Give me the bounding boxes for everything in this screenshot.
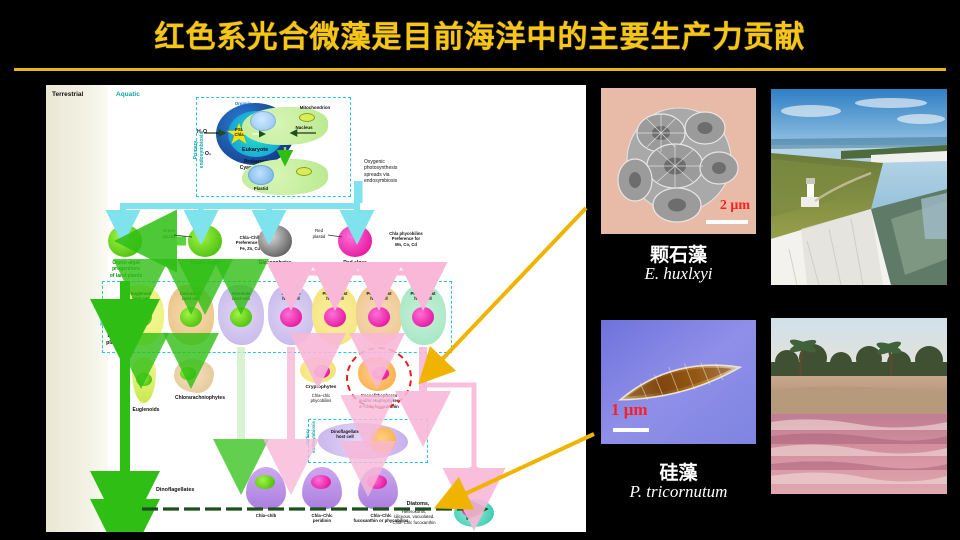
specimen-2-species: P. tricornutum <box>601 482 756 502</box>
chalk-cliff-photo <box>771 89 947 285</box>
endosymbiosis-diagram: Terrestrial Aquatic PSII Chla PSI Chla O… <box>46 85 586 532</box>
diatom-lm-art <box>601 320 756 444</box>
scale-label-coccolith: 2 μm <box>720 198 750 214</box>
scale-bar-diatom <box>613 428 649 432</box>
specimen-1-common-name: 颗石藻 <box>601 240 756 267</box>
red-tide-beach-photo <box>771 318 947 494</box>
diatom-micrograph: 1 μm <box>601 320 756 444</box>
coccolithophore-micrograph: 2 μm <box>601 88 756 234</box>
diagram-connectors <box>46 85 586 532</box>
title-divider <box>14 68 946 71</box>
slide-title-bar: 红色系光合微藻是目前海洋中的主要生产力贡献 <box>0 0 960 68</box>
scale-bar-coccolith <box>706 220 748 224</box>
specimen-1-species: E. huxlxyi <box>601 264 756 284</box>
cliff-scene-art <box>771 89 947 285</box>
page-title: 红色系光合微藻是目前海洋中的主要生产力贡献 <box>155 12 806 56</box>
beach-scene-art <box>771 318 947 494</box>
specimen-2-common-name: 硅藻 <box>601 458 756 485</box>
scale-label-diatom: 1 μm <box>611 400 648 420</box>
